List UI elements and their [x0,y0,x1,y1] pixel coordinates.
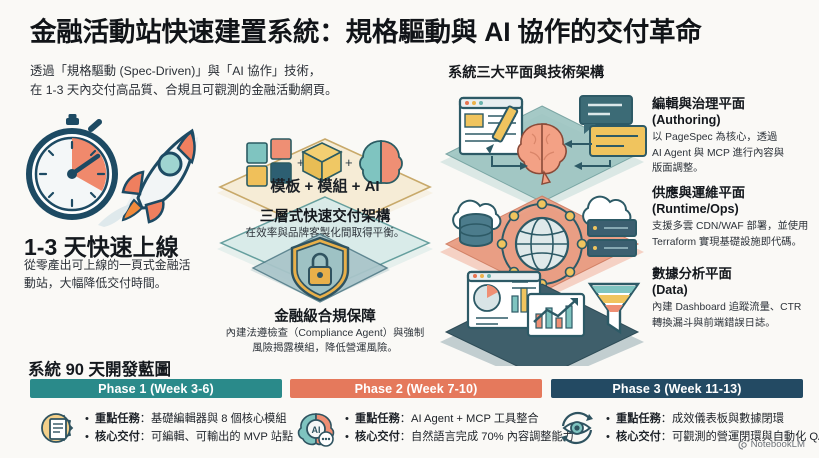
left-body-line-1: 從零產出可上線的一頁式金融活 [24,256,214,274]
bullet-icon: • [85,413,89,425]
speed-illustration [6,112,221,227]
layer2-caption: 三層式快速交付架構 [205,205,445,226]
plane-title-authoring: 編輯與治理平面 [652,96,817,113]
phase-1-task-label: 重點任務 [95,413,140,425]
notebooklm-icon [738,440,748,450]
infographic-page: 金融活動站快速建置系統：規格驅動與 AI 協作的交付革命 透過「規格驅動 (Sp… [0,0,819,458]
phase-2-deliver-label: 核心交付 [355,431,400,443]
plane-block-authoring: 編輯與治理平面 (Authoring) 以 PageSpec 為核心，透過 AI… [652,96,817,177]
plane-desc-runtime: 支援多雲 CDN/WAF 部署，並使用 Terraform 實現基礎設施即代碼。 [652,219,817,250]
page-title: 金融活動站快速建置系統：規格驅動與 AI 協作的交付革命 [30,17,800,47]
phase-2-task-value: AI Agent + MCP 工具整合 [411,413,539,425]
phase-2-task-label: 重點任務 [355,413,400,425]
compliance-shield-illustration [245,232,395,310]
chat-bubble-icon [580,96,646,156]
phase-2-bar: Phase 2 (Week 7-10) [290,379,542,398]
plane-title-data: 數據分析平面 [652,266,817,283]
cloud-server-icon [583,197,636,256]
plane-desc-line-1: 以 PageSpec 為核心，透過 [652,130,817,145]
phase-3-task: • 重點任務：成效儀表板與數據閉環 [606,410,819,428]
phase-1-deliver-label: 核心交付 [95,431,140,443]
phase-1-task: • 重點任務：基礎編輯器與 8 個核心模組 [85,410,293,428]
data-plane [440,272,644,366]
phase-2-lines: • 重點任務：AI Agent + MCP 工具整合 • 核心交付：自然語言完成… [345,410,574,446]
phase-3-bar: Phase 3 (Week 11-13) [551,379,803,398]
plane-english-runtime: (Runtime/Ops) [652,202,817,218]
bullet-icon: • [345,431,349,443]
layer3-subcaption: 內建法遵檢查（Compliance Agent）與強制 風險揭露模組，降低營運風… [195,326,455,356]
authoring-plane [440,96,646,210]
bullet-icon: • [345,413,349,425]
plane-desc-line-2: AI Agent 與 MCP 進行內容與 [652,146,817,161]
gear-document-icon [34,406,78,450]
plane-block-data: 數據分析平面 (Data) 內建 Dashboard 追蹤流量、CTR 轉換漏斗… [652,266,817,331]
phase-3-task-value: 成效儀表板與數據閉環 [672,413,784,425]
intro-line-1: 透過「規格驅動 (Spec-Driven)」與「AI 協作」技術， [30,62,380,81]
plane-title-runtime: 供應與運維平面 [652,185,817,202]
right-section-heading: 系統三大平面與技術架構 [448,62,604,82]
phase-1-deliver-value: 可編輯、可輸出的 MVP 站點 [151,431,293,443]
svg-text:+: + [345,155,353,170]
phase-card-2: Phase 2 (Week 7-10) AI • 重點任務：AI Agent +… [290,379,542,450]
three-planes-illustration [432,86,652,366]
plane-desc-line-2: Terraform 實現基礎設施即代碼。 [652,235,817,250]
plane-english-authoring: (Authoring) [652,113,817,129]
roadmap-title: 系統 90 天開發藍圖 [28,356,171,380]
eye-cycle-icon [555,406,599,450]
phase-2-deliver: • 核心交付：自然語言完成 70% 內容調整能力 [345,428,574,446]
phase-1-bar: Phase 1 (Week 3-6) [30,379,282,398]
plane-desc-line-3: 版面調整。 [652,161,817,176]
layer1-caption: 模板 + 模組 + AI [205,175,445,196]
svg-text:AI: AI [312,425,321,435]
layer3-sub-line-2: 風險揭露模組，降低營運風險。 [195,341,455,356]
phase-1-lines: • 重點任務：基礎編輯器與 8 個核心模組 • 核心交付：可編輯、可輸出的 MV… [85,410,293,446]
plane-desc-data: 內建 Dashboard 追蹤流量、CTR 轉換漏斗與前端錯誤日誌。 [652,300,817,331]
ai-brain-chat-icon: AI [294,406,338,450]
plane-block-runtime: 供應與運維平面 (Runtime/Ops) 支援多雲 CDN/WAF 部署，並使… [652,185,817,250]
layer3-caption: 金融級合規保障 [205,305,445,326]
notebooklm-watermark: NotebookLM [738,439,805,450]
plane-desc-line-2: 轉換漏斗與前端錯誤日誌。 [652,316,817,331]
bullet-icon: • [606,431,610,443]
phase-2-deliver-value: 自然語言完成 70% 內容調整能力 [411,431,574,443]
phase-card-1: Phase 1 (Week 3-6) • 重點任務：基礎編輯器與 8 個核心模組… [30,379,282,450]
intro-paragraph: 透過「規格驅動 (Spec-Driven)」與「AI 協作」技術， 在 1-3 … [30,62,380,100]
plane-english-data: (Data) [652,283,817,299]
phase-1-task-value: 基礎編輯器與 8 個核心模組 [151,413,287,425]
intro-line-2: 在 1-3 天內交付高品質、合規且可觀測的金融活動網頁。 [30,81,380,100]
plane-desc-line-1: 內建 Dashboard 追蹤流量、CTR [652,300,817,315]
layer3-sub-line-1: 內建法遵檢查（Compliance Agent）與強制 [195,326,455,341]
phase-3-deliver-label: 核心交付 [616,431,661,443]
phase-3-task-label: 重點任務 [616,413,661,425]
notebooklm-label: NotebookLM [751,439,805,450]
left-body-line-2: 動站，大幅降低交付時間。 [24,274,214,292]
phase-2-task: • 重點任務：AI Agent + MCP 工具整合 [345,410,574,428]
plane-desc-line-1: 支援多雲 CDN/WAF 部署，並使用 [652,219,817,234]
bullet-icon: • [606,413,610,425]
left-body: 從零產出可上線的一頁式金融活 動站，大幅降低交付時間。 [24,256,214,293]
plane-desc-authoring: 以 PageSpec 為核心，透過 AI Agent 與 MCP 進行內容與 版… [652,130,817,176]
bullet-icon: • [85,431,89,443]
stopwatch-icon [29,114,115,217]
phase-1-deliver: • 核心交付：可編輯、可輸出的 MVP 站點 [85,428,293,446]
